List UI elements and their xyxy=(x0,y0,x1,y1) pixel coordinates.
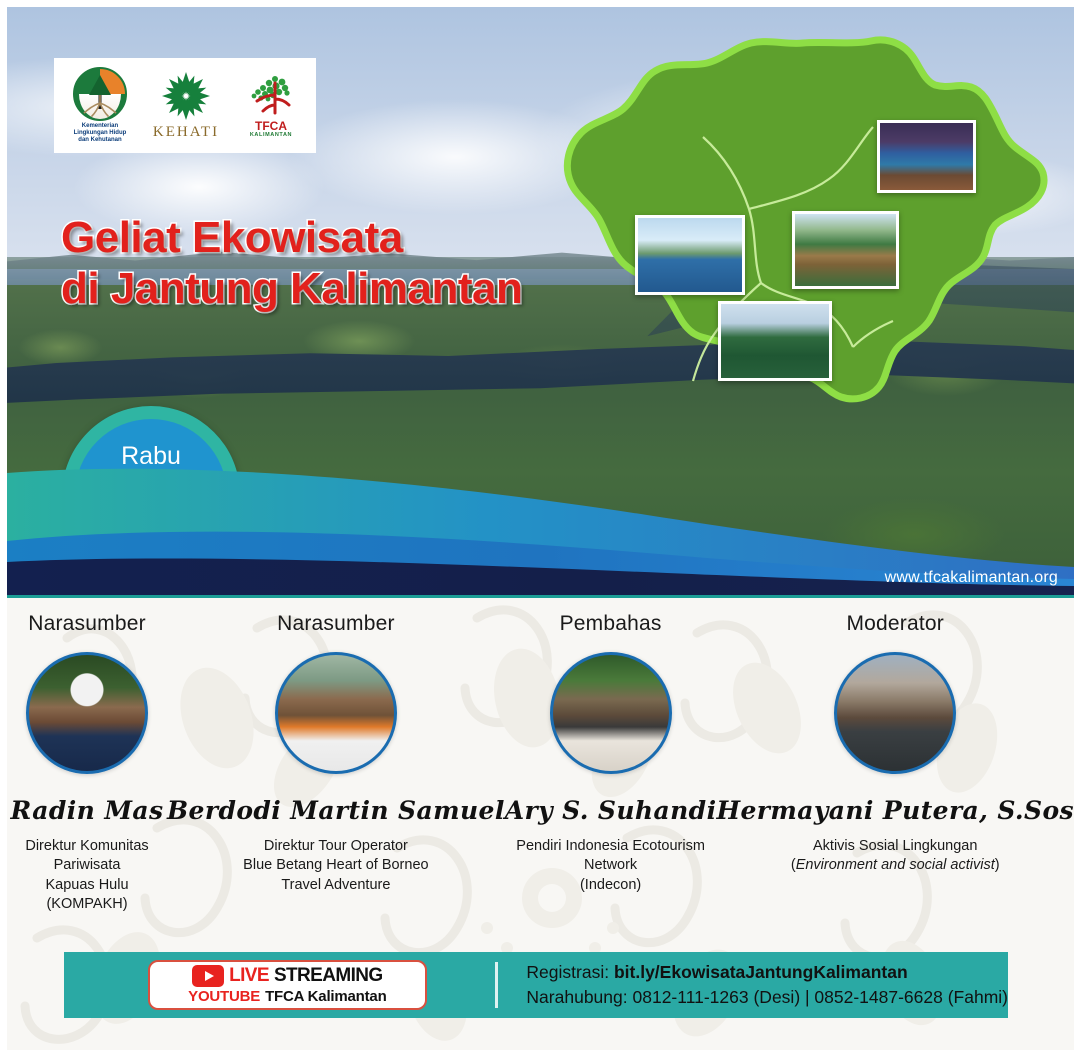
kehati-logo-text: KEHATI xyxy=(153,124,219,141)
logo-strip: Kementerian Lingkungan Hidup dan Kehutan… xyxy=(54,58,316,153)
tfca-logo-sub: KALIMANTAN xyxy=(250,132,292,138)
roots-icon xyxy=(78,95,122,117)
speaker-name-3: Ary S. Suhandi xyxy=(505,796,717,825)
speaker-card-4: Moderator Hermayani Putera, S.Sos Aktivi… xyxy=(716,612,1074,932)
speaker-desc-3: Pendiri Indonesia Ecotourism Network (In… xyxy=(505,837,717,895)
kehati-star-icon xyxy=(160,70,212,122)
registration-block: Registrasi: bit.ly/EkowisataJantungKalim… xyxy=(526,960,1008,1011)
speaker-desc-3-line-2: (Indecon) xyxy=(505,876,717,895)
klhk-emblem-icon xyxy=(73,67,127,121)
title-line-2: di Jantung Kalimantan xyxy=(61,264,522,313)
live-streaming-row: LIVE STREAMING xyxy=(192,965,382,987)
tfca-logo-text: TFCA xyxy=(255,120,287,132)
speaker-name-1: Radin Mas xyxy=(11,796,164,825)
registration-line[interactable]: Registrasi: bit.ly/EkowisataJantungKalim… xyxy=(526,960,1008,985)
tfca-tree-icon xyxy=(245,73,297,119)
contact-value: 0812-111-1263 (Desi) | 0852-1487-6628 (F… xyxy=(633,987,1009,1007)
registration-label: Registrasi: xyxy=(526,962,609,982)
contact-line: Narahubung: 0812-111-1263 (Desi) | 0852-… xyxy=(526,985,1008,1010)
speaker-desc-2-line-3: Travel Adventure xyxy=(243,876,428,895)
youtube-play-icon xyxy=(192,965,224,987)
speaker-role-4: Moderator xyxy=(846,612,944,636)
registration-link[interactable]: bit.ly/EkowisataJantungKalimantan xyxy=(614,962,908,982)
live-streaming-badge[interactable]: LIVE STREAMING YOUTUBE TFCA Kalimantan xyxy=(148,960,427,1010)
speaker-desc-2-line-2: Blue Betang Heart of Borneo xyxy=(243,856,428,875)
speaker-card-1: Narasumber Radin Mas Direktur Komunitas … xyxy=(7,612,167,932)
speaker-desc-1-line-1: Direktur Komunitas Pariwisata xyxy=(7,837,167,876)
speaker-desc-2-line-1: Direktur Tour Operator xyxy=(243,837,428,856)
bottom-banner: LIVE STREAMING YOUTUBE TFCA Kalimantan R… xyxy=(64,952,1008,1018)
live-label: LIVE xyxy=(229,965,269,987)
streaming-label: STREAMING xyxy=(274,965,383,987)
contact-label: Narahubung: xyxy=(526,987,627,1007)
klhk-logo-text: Kementerian Lingkungan Hidup dan Kehutan… xyxy=(74,123,127,145)
speaker-desc-1: Direktur Komunitas Pariwisata Kapuas Hul… xyxy=(7,837,167,915)
klhk-logo: Kementerian Lingkungan Hidup dan Kehutan… xyxy=(73,67,127,145)
banner-divider xyxy=(495,962,499,1008)
inset-peak-photo xyxy=(718,301,832,381)
speaker-desc-1-line-2: Kapuas Hulu (KOMPAKH) xyxy=(7,876,167,915)
inset-jetty-photo xyxy=(635,215,745,295)
inset-bridge-photo xyxy=(877,120,976,193)
website-url[interactable]: www.tfcakalimantan.org xyxy=(885,569,1058,587)
klhk-line-3: dan Kehutanan xyxy=(74,137,127,144)
title-line-1: Geliat Ekowisata xyxy=(61,213,403,262)
speaker-avatar-4 xyxy=(834,652,956,774)
speaker-avatar-2 xyxy=(275,652,397,774)
klhk-line-2: Lingkungan Hidup xyxy=(74,130,127,137)
speaker-name-2: Berdodi Martin Samuel xyxy=(167,796,505,825)
speaker-desc-4-line-1: Aktivis Sosial Lingkungan xyxy=(791,837,1000,856)
speaker-desc-3-line-1: Pendiri Indonesia Ecotourism Network xyxy=(505,837,717,876)
inset-river-photo xyxy=(792,211,899,289)
page-title: Geliat Ekowisata di Jantung Kalimantan xyxy=(61,213,522,314)
tfca-logo: TFCA KALIMANTAN xyxy=(245,73,297,138)
speaker-desc-2: Direktur Tour Operator Blue Betang Heart… xyxy=(243,837,428,895)
speaker-role-1: Narasumber xyxy=(28,612,146,636)
speaker-role-2: Narasumber xyxy=(277,612,395,636)
speaker-card-3: Pembahas Ary S. Suhandi Pendiri Indonesi… xyxy=(505,612,717,932)
kehati-logo: KEHATI xyxy=(153,70,219,141)
speaker-role-3: Pembahas xyxy=(560,612,662,636)
speaker-desc-4-italic: Environment and social activist xyxy=(796,857,995,873)
channel-label: TFCA Kalimantan xyxy=(265,988,386,1005)
hero-banner: www.tfcakalimantan.org Kementerian Lingk… xyxy=(7,7,1074,597)
hero-bottom-rule xyxy=(7,595,1074,598)
borneo-map xyxy=(553,29,1053,449)
youtube-label: YOUTUBE xyxy=(188,988,260,1005)
klhk-line-1: Kementerian xyxy=(74,123,127,130)
speaker-avatar-1 xyxy=(26,652,148,774)
tree-icon xyxy=(89,75,111,95)
poster-root: www.tfcakalimantan.org Kementerian Lingk… xyxy=(0,0,1081,1057)
youtube-channel-row: YOUTUBE TFCA Kalimantan xyxy=(188,988,386,1005)
speaker-desc-4: Aktivis Sosial Lingkungan (Environment a… xyxy=(791,837,1000,876)
speakers-row: Narasumber Radin Mas Direktur Komunitas … xyxy=(7,612,1074,932)
speaker-name-4: Hermayani Putera, S.Sos xyxy=(716,796,1074,825)
speaker-card-2: Narasumber Berdodi Martin Samuel Direktu… xyxy=(167,612,505,932)
speaker-desc-4-line-2: (Environment and social activist) xyxy=(791,856,1000,875)
speaker-avatar-3 xyxy=(550,652,672,774)
